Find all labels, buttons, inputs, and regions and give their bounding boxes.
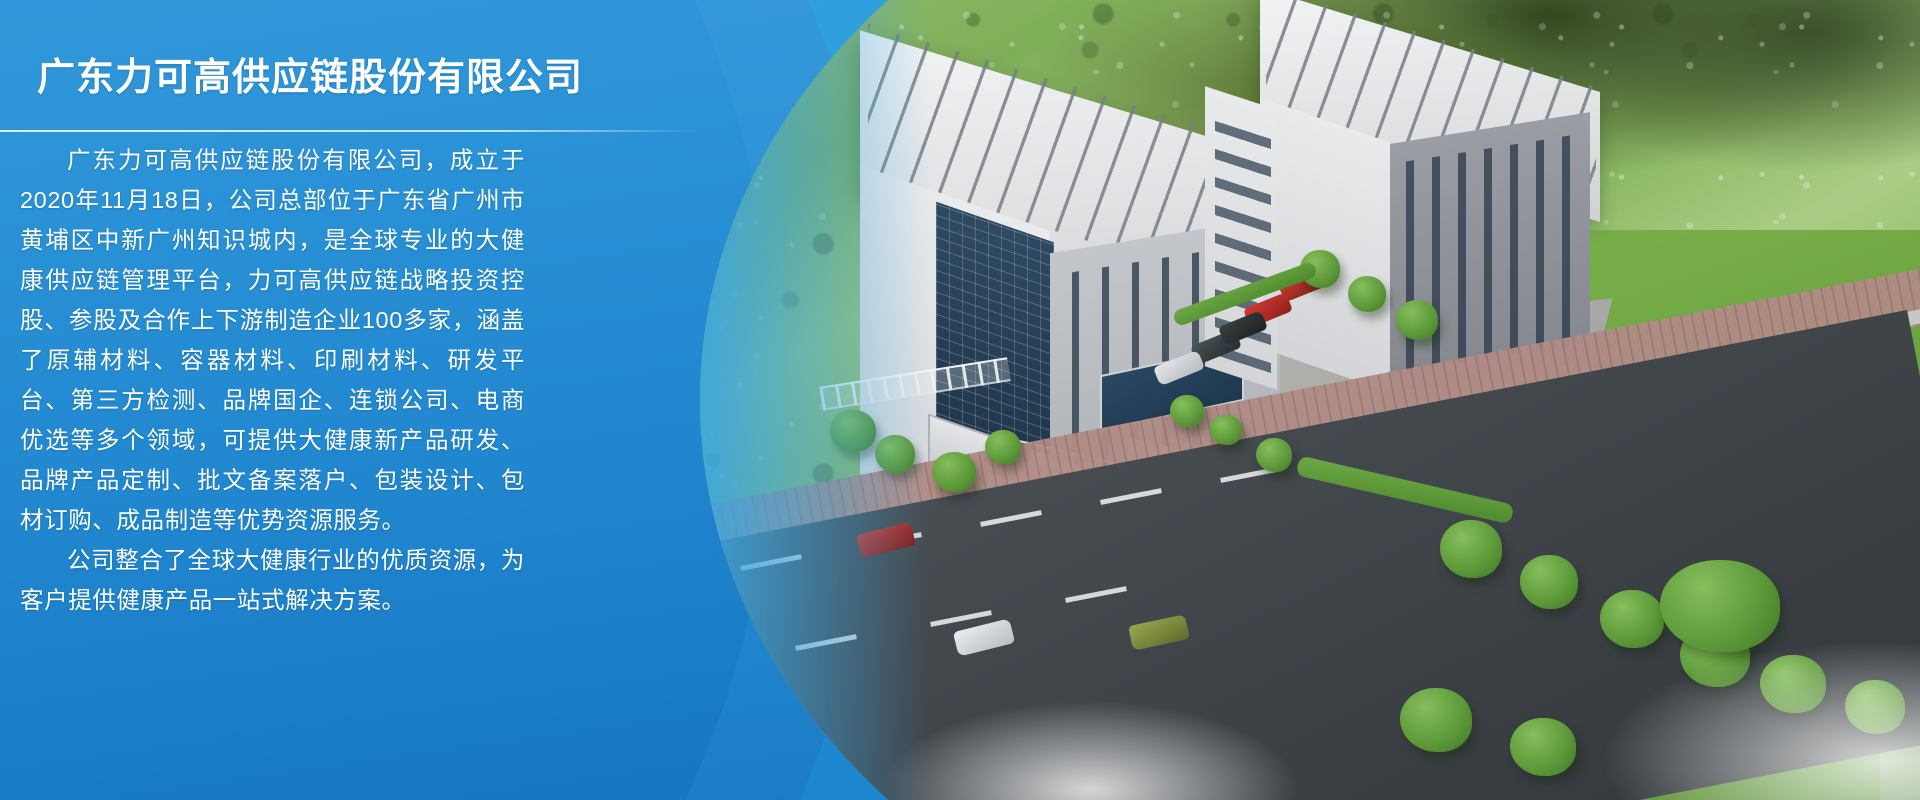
campus-photo-inner	[700, 0, 1920, 800]
tree-6	[1348, 276, 1386, 312]
tree-10	[1256, 438, 1292, 472]
tree-13	[1600, 590, 1664, 648]
company-description: 广东力可高供应链股份有限公司，成立于2020年11月18日，公司总部位于广东省广…	[20, 140, 525, 620]
page-title: 广东力可高供应链股份有限公司	[37, 56, 583, 102]
company-profile-banner: 广东力可高供应链股份有限公司 广东力可高供应链股份有限公司，成立于2020年11…	[0, 0, 1920, 800]
tree-12	[1520, 555, 1578, 609]
tree-4	[985, 430, 1021, 464]
tree-19	[1510, 718, 1576, 776]
tree-18	[1400, 688, 1472, 752]
second-building-window-grid	[1406, 135, 1576, 372]
tree-16	[1660, 560, 1780, 652]
tree-8	[1170, 395, 1204, 427]
photo-left-fade	[700, 0, 930, 800]
second-building-front-face	[1260, 98, 1390, 393]
tree-11	[1440, 520, 1502, 578]
description-paragraph-2: 公司整合了全球大健康行业的优质资源，为客户提供健康产品一站式解决方案。	[20, 540, 525, 620]
title-divider	[0, 130, 700, 132]
campus-photo	[700, 0, 1920, 800]
tree-9	[1210, 415, 1242, 445]
description-paragraph-1: 广东力可高供应链股份有限公司，成立于2020年11月18日，公司总部位于广东省广…	[20, 140, 525, 540]
tree-3	[932, 452, 976, 492]
tree-7	[1396, 300, 1438, 340]
